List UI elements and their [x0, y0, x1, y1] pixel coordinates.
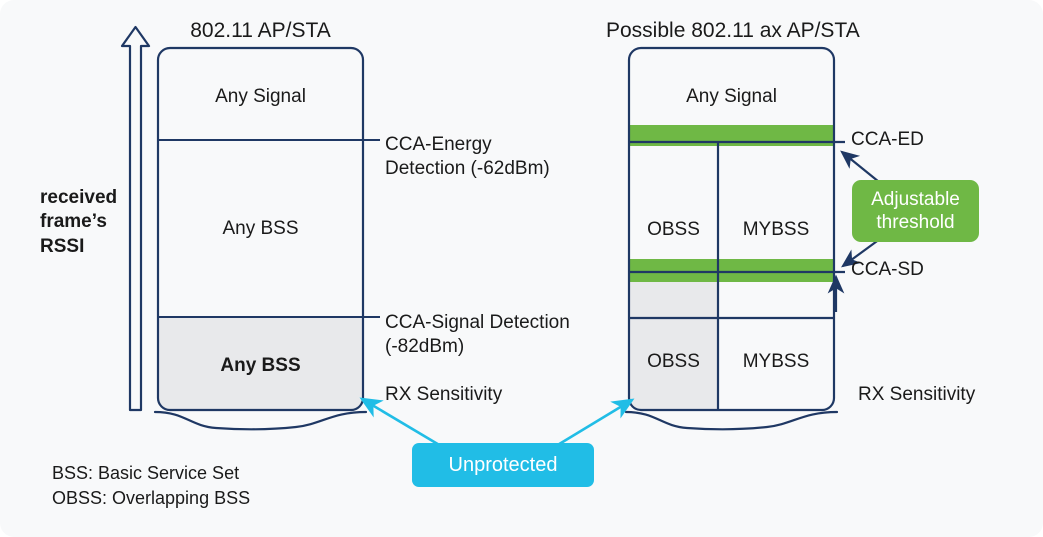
left-column-title: 802.11 AP/STA — [158, 18, 363, 45]
right-rx-sensitivity-label: RX Sensitivity — [858, 383, 1043, 407]
adjustable-threshold-badge[interactable]: Adjustable threshold — [852, 180, 979, 242]
right-cell-shaded-fill — [629, 282, 718, 412]
cca-sd-green-band — [629, 259, 834, 282]
right-threshold-cca-sd-label: CCA-SD — [851, 258, 1031, 282]
right-threshold-cca-ed-label: CCA-ED — [851, 128, 1031, 152]
left-threshold-cca-sd-label: CCA-Signal Detection (-82dBm) — [385, 311, 635, 360]
legend-bss: BSS: Basic Service Set — [52, 462, 382, 485]
unprotected-badge[interactable]: Unprotected — [412, 443, 594, 487]
left-box-break-line — [155, 412, 366, 429]
right-cell-obss-upper: OBSS — [629, 218, 718, 242]
rssi-axis-label: received frame’s RSSI — [40, 186, 132, 259]
right-column-title: Possible 802.11 ax AP/STA — [606, 18, 856, 45]
right-cell-mybss-upper: MYBSS — [718, 218, 834, 242]
left-cell-any-bss-lower: Any BSS — [158, 354, 363, 378]
left-rx-sensitivity-label: RX Sensitivity — [385, 383, 635, 407]
right-cell-obss-lower: OBSS — [629, 350, 718, 374]
right-box-break-line — [626, 412, 837, 429]
legend-obss: OBSS: Overlapping BSS — [52, 487, 382, 510]
left-threshold-cca-ed-label: CCA-Energy Detection (-62dBm) — [385, 133, 635, 182]
cca-ed-green-band — [629, 125, 834, 146]
left-cell-any-signal: Any Signal — [158, 85, 363, 109]
left-cell-any-bss-upper: Any BSS — [158, 217, 363, 241]
diagram-canvas: received frame’s RSSI 802.11 AP/STA Any … — [0, 0, 1043, 537]
right-cell-mybss-lower: MYBSS — [718, 350, 834, 374]
right-cell-any-signal: Any Signal — [629, 85, 834, 109]
